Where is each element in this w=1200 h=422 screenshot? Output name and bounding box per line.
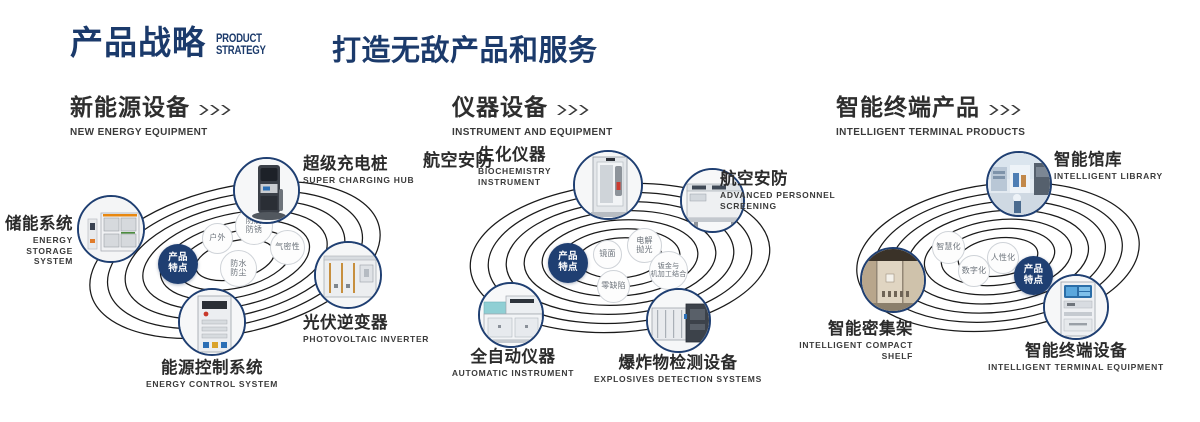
caption-en: ENERGY STORAGE SYSTEM bbox=[0, 235, 73, 267]
feature-bubble: 零缺陷 bbox=[597, 270, 630, 303]
caption-cn: 爆炸物检测设备 bbox=[578, 354, 778, 372]
feature-bubble: 气密性 bbox=[270, 230, 305, 265]
compact-shelf-icon bbox=[862, 249, 924, 311]
library-hall-icon bbox=[988, 153, 1050, 215]
page-title-english: PRODUCT STRATEGY bbox=[216, 32, 266, 59]
caption-automatic-instrument: 全自动仪器 AUTOMATIC INSTRUMENT bbox=[423, 348, 603, 379]
core-bubble: 产品 特点 bbox=[548, 243, 588, 283]
section-title-new-energy: 新能源设备 NEW ENERGY EQUIPMENT bbox=[70, 96, 233, 138]
node-energy-storage-system[interactable] bbox=[77, 195, 145, 263]
section-title-instrument: 仪器设备 INSTRUMENT AND EQUIPMENT bbox=[452, 96, 621, 138]
section-title-intelligent-terminal: 智能终端产品 INTELLIGENT TERMINAL PRODUCTS bbox=[836, 96, 1035, 138]
caption-intelligent-library: 智能馆库 INTELLIGENT LIBRARY bbox=[1054, 151, 1200, 182]
feature-bubble: 数字化 bbox=[958, 255, 990, 287]
explosives-detector-icon bbox=[648, 290, 709, 351]
caption-cn: 智能终端设备 bbox=[986, 342, 1166, 360]
caption-explosives-detection-systems: 爆炸物检测设备 EXPLOSIVES DETECTION SYSTEMS bbox=[578, 354, 778, 385]
inverter-cabinet-icon bbox=[316, 243, 380, 307]
node-intelligent-terminal-equipment[interactable] bbox=[1043, 274, 1109, 340]
caption-cn: 智能密集架 bbox=[773, 320, 913, 338]
caption-cn: 储能系统 bbox=[0, 215, 73, 233]
section-title-cn: 仪器设备 bbox=[452, 96, 548, 121]
node-automatic-instrument[interactable] bbox=[478, 282, 544, 348]
core-bubble: 产品 特点 bbox=[158, 244, 198, 284]
caption-en: SUPER CHARGING HUB bbox=[303, 175, 443, 186]
chevron-triple-right-icon bbox=[989, 101, 1023, 116]
caption-en: INTELLIGENT LIBRARY bbox=[1054, 171, 1200, 182]
caption-biochemistry-instrument: 生化仪器 BIOCHEMISTRY INSTRUMENT bbox=[478, 146, 598, 187]
caption-cn: 智能馆库 bbox=[1054, 151, 1200, 169]
orbit-diagram-intelligent-terminal: 智慧化 数字化 人性化 产品 特点 bbox=[828, 160, 1168, 360]
control-cabinet-icon bbox=[180, 290, 244, 354]
feature-bubble: 镜面 bbox=[593, 240, 622, 269]
caption-en: ENERGY CONTROL SYSTEM bbox=[88, 379, 336, 390]
node-explosives-detection-systems[interactable] bbox=[646, 288, 711, 353]
section-title-en: NEW ENERGY EQUIPMENT bbox=[70, 126, 225, 138]
node-photovoltaic-inverter[interactable] bbox=[314, 241, 382, 309]
section-title-en: INTELLIGENT TERMINAL PRODUCTS bbox=[836, 126, 1025, 138]
section-title-cn: 新能源设备 bbox=[70, 96, 190, 121]
caption-cn: 生化仪器 bbox=[478, 146, 598, 164]
feature-bubble: 户外 bbox=[202, 223, 233, 254]
product-strategy-infographic: 产品战略 PRODUCT STRATEGY 打造无敌产品和服务 新能源设备 NE… bbox=[0, 0, 1200, 422]
self-service-kiosk-icon bbox=[1045, 276, 1107, 338]
feature-bubble: 钣金与 机加工结合 bbox=[649, 251, 688, 290]
chevron-triple-right-icon bbox=[557, 101, 591, 116]
page-slogan: 打造无敌产品和服务 bbox=[332, 36, 598, 65]
chevron-triple-right-icon bbox=[199, 101, 233, 116]
caption-en: BIOCHEMISTRY INSTRUMENT bbox=[478, 166, 598, 187]
caption-en: AUTOMATIC INSTRUMENT bbox=[423, 368, 603, 379]
section-title-en: INSTRUMENT AND EQUIPMENT bbox=[452, 126, 613, 138]
caption-en: EXPLOSIVES DETECTION SYSTEMS bbox=[578, 374, 778, 385]
caption-intelligent-compact-shelf: 智能密集架 INTELLIGENT COMPACT SHELF bbox=[773, 320, 913, 361]
node-energy-control-system[interactable] bbox=[178, 288, 246, 356]
node-intelligent-compact-shelf[interactable] bbox=[860, 247, 926, 313]
orbit-diagram-instrument: 产品 特点 镜面 电解 抛光 零缺陷 钣金与 机加工结合 航空安防 bbox=[435, 160, 805, 360]
orbit-diagram-new-energy: 产品 特点 户外 防腐 防锈 防水 防尘 气密性 bbox=[55, 160, 415, 360]
caption-en: INTELLIGENT TERMINAL EQUIPMENT bbox=[986, 362, 1166, 373]
caption-intelligent-terminal-equipment: 智能终端设备 INTELLIGENT TERMINAL EQUIPMENT bbox=[986, 342, 1166, 373]
caption-cn: 全自动仪器 bbox=[423, 348, 603, 366]
node-super-charging-hub[interactable] bbox=[233, 157, 300, 224]
charging-pile-icon bbox=[235, 159, 298, 222]
feature-bubble: 智慧化 bbox=[932, 231, 965, 264]
caption-cn: 能源控制系统 bbox=[88, 359, 336, 377]
node-intelligent-library[interactable] bbox=[986, 151, 1052, 217]
page-title: 产品战略 bbox=[70, 26, 206, 59]
battery-cabinet-icon bbox=[79, 197, 143, 261]
automatic-analyzer-icon bbox=[480, 284, 542, 346]
caption-energy-control-system: 能源控制系统 ENERGY CONTROL SYSTEM bbox=[88, 359, 336, 390]
feature-bubble: 防水 防尘 bbox=[220, 250, 257, 287]
caption-en: INTELLIGENT COMPACT SHELF bbox=[773, 340, 913, 361]
caption-energy-storage-system: 储能系统 ENERGY STORAGE SYSTEM bbox=[0, 215, 73, 267]
section-title-cn: 智能终端产品 bbox=[836, 96, 980, 121]
page-header: 产品战略 PRODUCT STRATEGY bbox=[70, 26, 278, 59]
